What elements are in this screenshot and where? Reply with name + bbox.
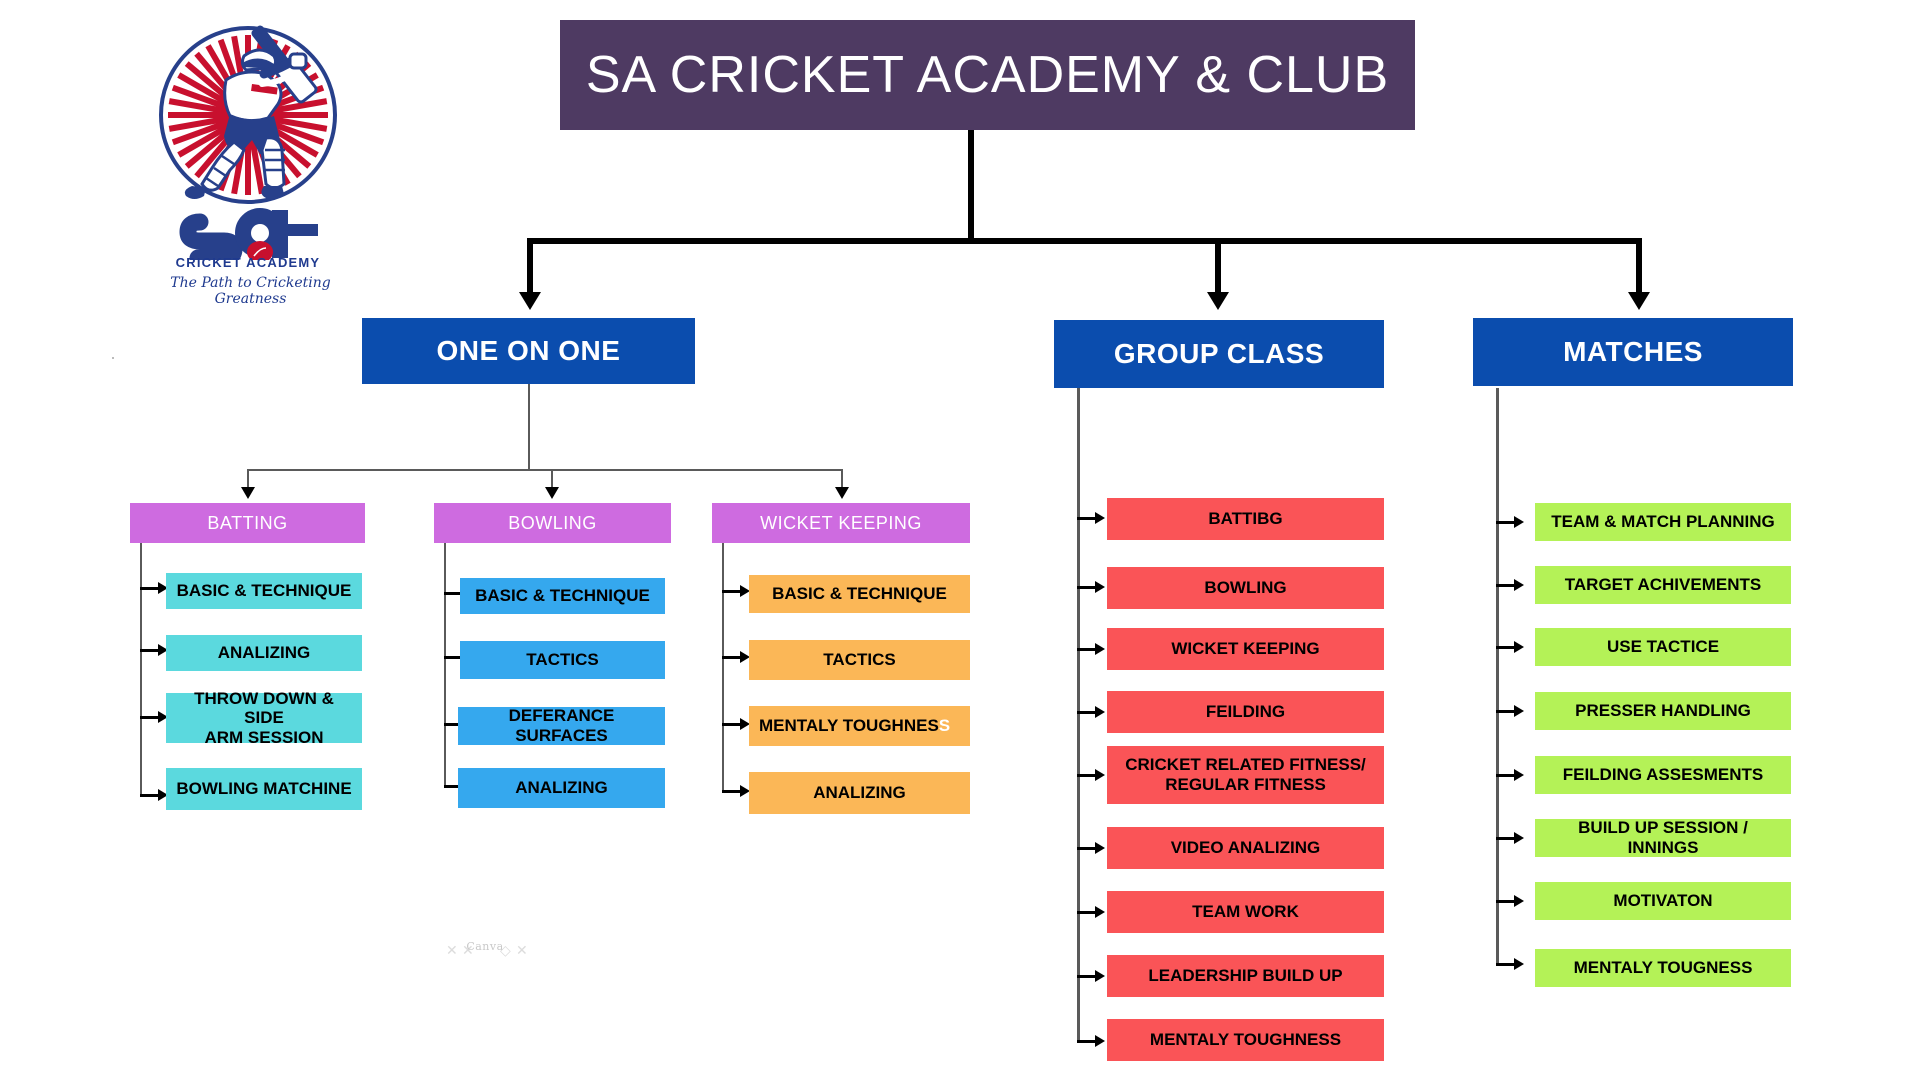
leaf-matches-2-label: TARGET ACHIVEMENTS <box>1565 575 1761 595</box>
group-header-bowling[interactable]: BOWLING <box>434 503 671 543</box>
group-header-batting-label: BATTING <box>207 513 287 534</box>
leaf-matches-6[interactable]: BUILD UP SESSION / INNINGS <box>1535 819 1791 857</box>
leaf-group-6[interactable]: VIDEO ANALIZING <box>1107 827 1384 869</box>
leaf-bowling-4[interactable]: ANALIZING <box>458 768 665 808</box>
leaf-batting-3-line1: THROW DOWN & SIDE <box>172 689 356 728</box>
connector-wk-tick-2 <box>722 656 740 659</box>
leaf-group-5[interactable]: CRICKET RELATED FITNESS/ REGULAR FITNESS <box>1107 746 1384 804</box>
arrow-matches-6 <box>1514 832 1524 844</box>
leaf-batting-4[interactable]: BOWLING MATCHINE <box>166 768 362 810</box>
connector-title-stem <box>968 130 974 242</box>
arrow-matches-5 <box>1514 769 1524 781</box>
connector-wk-tick-3 <box>722 723 740 726</box>
leaf-batting-3[interactable]: THROW DOWN & SIDE ARM SESSION <box>166 693 362 743</box>
arrow-group-2 <box>1095 581 1105 593</box>
leaf-group-6-label: VIDEO ANALIZING <box>1171 838 1321 858</box>
arrow-group-8 <box>1095 970 1105 982</box>
connector-group-tick-8 <box>1077 975 1095 978</box>
academy-logo: CRICKET ACADEMY The Path to Cricketing G… <box>148 10 348 300</box>
connector-batting-tick-2 <box>140 649 158 652</box>
leaf-wk-2[interactable]: TACTICS <box>749 640 970 680</box>
leaf-group-2[interactable]: BOWLING <box>1107 567 1384 609</box>
arrow-group-9 <box>1095 1035 1105 1047</box>
connector-batting-tick-3 <box>140 716 158 719</box>
arrow-to-wicket-keeping <box>835 487 849 499</box>
connector-batting-tick-1 <box>140 587 158 590</box>
branch-group-class[interactable]: GROUP CLASS <box>1054 320 1384 388</box>
leaf-group-7-label: TEAM WORK <box>1192 902 1299 922</box>
connector-wk-tick-4 <box>722 790 740 793</box>
branch-one-on-one[interactable]: ONE ON ONE <box>362 318 695 384</box>
leaf-matches-5-label: FEILDING ASSESMENTS <box>1563 765 1764 785</box>
leaf-matches-2[interactable]: TARGET ACHIVEMENTS <box>1535 566 1791 604</box>
leaf-group-4[interactable]: FEILDING <box>1107 691 1384 733</box>
leaf-wk-2-label: TACTICS <box>823 650 895 670</box>
connector-drop-matches <box>1636 238 1642 294</box>
leaf-group-9[interactable]: MENTALY TOUGHNESS <box>1107 1019 1384 1061</box>
arrow-to-one-on-one <box>519 292 541 310</box>
leaf-matches-1[interactable]: TEAM & MATCH PLANNING <box>1535 503 1791 541</box>
leaf-matches-8-label: MENTALY TOUGNESS <box>1574 958 1753 978</box>
connector-drop-one <box>527 238 533 294</box>
leaf-group-8[interactable]: LEADERSHIP BUILD UP <box>1107 955 1384 997</box>
connector-matches-tick-5 <box>1496 774 1514 777</box>
leaf-wk-1-label: BASIC & TECHNIQUE <box>772 584 947 604</box>
arrow-group-1 <box>1095 512 1105 524</box>
connector-matches-tick-8 <box>1496 963 1514 966</box>
connector-oneonone-bus <box>247 469 843 471</box>
leaf-wk-4-label: ANALIZING <box>813 783 906 803</box>
arrow-group-4 <box>1095 706 1105 718</box>
connector-bowling-spine <box>444 543 446 788</box>
arrow-matches-7 <box>1514 895 1524 907</box>
leaf-matches-1-label: TEAM & MATCH PLANNING <box>1551 512 1775 532</box>
connector-oneonone-drop-wk <box>841 469 843 487</box>
connector-group-tick-6 <box>1077 847 1095 850</box>
leaf-batting-1-label: BASIC & TECHNIQUE <box>177 581 352 601</box>
branch-matches-label: MATCHES <box>1563 336 1703 368</box>
leaf-bowling-3[interactable]: DEFERANCE SURFACES <box>458 707 665 745</box>
connector-top-bus <box>527 238 1642 244</box>
leaf-matches-7-label: MOTIVATON <box>1613 891 1712 911</box>
connector-matches-tick-7 <box>1496 900 1514 903</box>
watermark-decor-far-icon: ✕ <box>516 942 528 959</box>
chart-title-box: SA CRICKET ACADEMY & CLUB <box>560 20 1415 130</box>
leaf-wk-1[interactable]: BASIC & TECHNIQUE <box>749 575 970 613</box>
arrow-matches-3 <box>1514 641 1524 653</box>
arrow-matches-4 <box>1514 705 1524 717</box>
leaf-batting-4-label: BOWLING MATCHINE <box>176 779 351 799</box>
leaf-bowling-4-label: ANALIZING <box>515 778 608 798</box>
connector-group-tick-2 <box>1077 586 1095 589</box>
arrow-to-matches <box>1628 292 1650 310</box>
leaf-wk-3[interactable]: MENTALY TOUGHNESS <box>749 706 970 746</box>
leaf-matches-4[interactable]: PRESSER HANDLING <box>1535 692 1791 730</box>
cricket-batsman-emblem-icon <box>148 10 348 260</box>
branch-matches[interactable]: MATCHES <box>1473 318 1793 386</box>
leaf-matches-8[interactable]: MENTALY TOUGNESS <box>1535 949 1791 987</box>
connector-oneonone-stem <box>528 384 530 470</box>
arrow-group-5 <box>1095 769 1105 781</box>
leaf-group-1[interactable]: BATTIBG <box>1107 498 1384 540</box>
connector-group-spine <box>1077 388 1080 1043</box>
leaf-batting-2[interactable]: ANALIZING <box>166 635 362 671</box>
connector-matches-tick-3 <box>1496 646 1514 649</box>
leaf-group-5-line1: CRICKET RELATED FITNESS/ <box>1125 755 1366 775</box>
connector-group-tick-3 <box>1077 648 1095 651</box>
branch-group-class-label: GROUP CLASS <box>1114 338 1324 370</box>
leaf-matches-7[interactable]: MOTIVATON <box>1535 882 1791 920</box>
connector-drop-group <box>1215 238 1221 294</box>
connector-group-tick-7 <box>1077 911 1095 914</box>
leaf-group-3[interactable]: WICKET KEEPING <box>1107 628 1384 670</box>
leaf-group-2-label: BOWLING <box>1204 578 1286 598</box>
connector-matches-tick-2 <box>1496 584 1514 587</box>
group-header-wicket-keeping-label: WICKET KEEPING <box>760 513 922 534</box>
connector-group-tick-5 <box>1077 774 1095 777</box>
connector-batting-tick-4 <box>140 794 158 797</box>
leaf-matches-4-label: PRESSER HANDLING <box>1575 701 1751 721</box>
connector-matches-tick-1 <box>1496 521 1514 524</box>
leaf-batting-2-label: ANALIZING <box>218 643 311 663</box>
watermark-decor-right-icon: ◇ <box>500 942 511 959</box>
leaf-bowling-2[interactable]: TACTICS <box>460 641 665 679</box>
leaf-group-8-label: LEADERSHIP BUILD UP <box>1148 966 1342 986</box>
arrow-group-6 <box>1095 842 1105 854</box>
connector-matches-tick-6 <box>1496 837 1514 840</box>
leaf-matches-3[interactable]: USE TACTICE <box>1535 628 1791 666</box>
logo-tagline: The Path to Cricketing Greatness <box>148 275 353 307</box>
branch-one-on-one-label: ONE ON ONE <box>437 335 621 367</box>
leaf-group-3-label: WICKET KEEPING <box>1171 639 1319 659</box>
org-chart-canvas: CRICKET ACADEMY The Path to Cricketing G… <box>0 0 1920 1080</box>
connector-oneonone-drop-batting <box>247 469 249 487</box>
arrow-matches-1 <box>1514 516 1524 528</box>
leaf-group-9-label: MENTALY TOUGHNESS <box>1150 1030 1341 1050</box>
chart-title: SA CRICKET ACADEMY & CLUB <box>586 45 1389 105</box>
connector-wk-tick-1 <box>722 590 740 593</box>
leaf-matches-5[interactable]: FEILDING ASSESMENTS <box>1535 756 1791 794</box>
connector-wk-spine <box>722 543 724 793</box>
leaf-wk-4[interactable]: ANALIZING <box>749 772 970 814</box>
arrow-group-7 <box>1095 906 1105 918</box>
leaf-group-1-label: BATTIBG <box>1208 509 1282 529</box>
leaf-group-4-label: FEILDING <box>1206 702 1285 722</box>
leaf-group-5-line2: REGULAR FITNESS <box>1165 775 1326 795</box>
leaf-matches-3-label: USE TACTICE <box>1607 637 1719 657</box>
leaf-bowling-2-label: TACTICS <box>526 650 598 670</box>
connector-group-tick-4 <box>1077 711 1095 714</box>
logo-subtitle: CRICKET ACADEMY <box>148 255 348 270</box>
leaf-bowling-3-label: DEFERANCE SURFACES <box>464 706 659 745</box>
leaf-group-7[interactable]: TEAM WORK <box>1107 891 1384 933</box>
arrow-to-batting <box>241 487 255 499</box>
leaf-batting-3-line2: ARM SESSION <box>204 728 323 748</box>
group-header-bowling-label: BOWLING <box>508 513 597 534</box>
connector-group-tick-9 <box>1077 1040 1095 1043</box>
leaf-batting-1[interactable]: BASIC & TECHNIQUE <box>166 573 362 609</box>
connector-group-tick-1 <box>1077 517 1095 520</box>
leaf-wk-3-overflow: S <box>939 716 950 736</box>
connector-batting-spine <box>140 543 142 797</box>
arrow-matches-8 <box>1514 958 1524 970</box>
arrow-to-group-class <box>1207 292 1229 310</box>
arrow-group-3 <box>1095 643 1105 655</box>
leaf-bowling-1[interactable]: BASIC & TECHNIQUE <box>460 578 665 614</box>
leaf-bowling-1-label: BASIC & TECHNIQUE <box>475 586 650 606</box>
connector-matches-spine <box>1496 388 1499 966</box>
arrow-to-bowling <box>545 487 559 499</box>
leaf-wk-3-label: MENTALY TOUGHNES <box>759 716 939 736</box>
connector-matches-tick-4 <box>1496 710 1514 713</box>
connector-oneonone-drop-bowling <box>551 469 553 487</box>
group-header-wicket-keeping[interactable]: WICKET KEEPING <box>712 503 970 543</box>
stray-dot <box>112 357 114 359</box>
leaf-matches-6-label: BUILD UP SESSION / INNINGS <box>1541 818 1785 857</box>
arrow-matches-2 <box>1514 579 1524 591</box>
group-header-batting[interactable]: BATTING <box>130 503 365 543</box>
